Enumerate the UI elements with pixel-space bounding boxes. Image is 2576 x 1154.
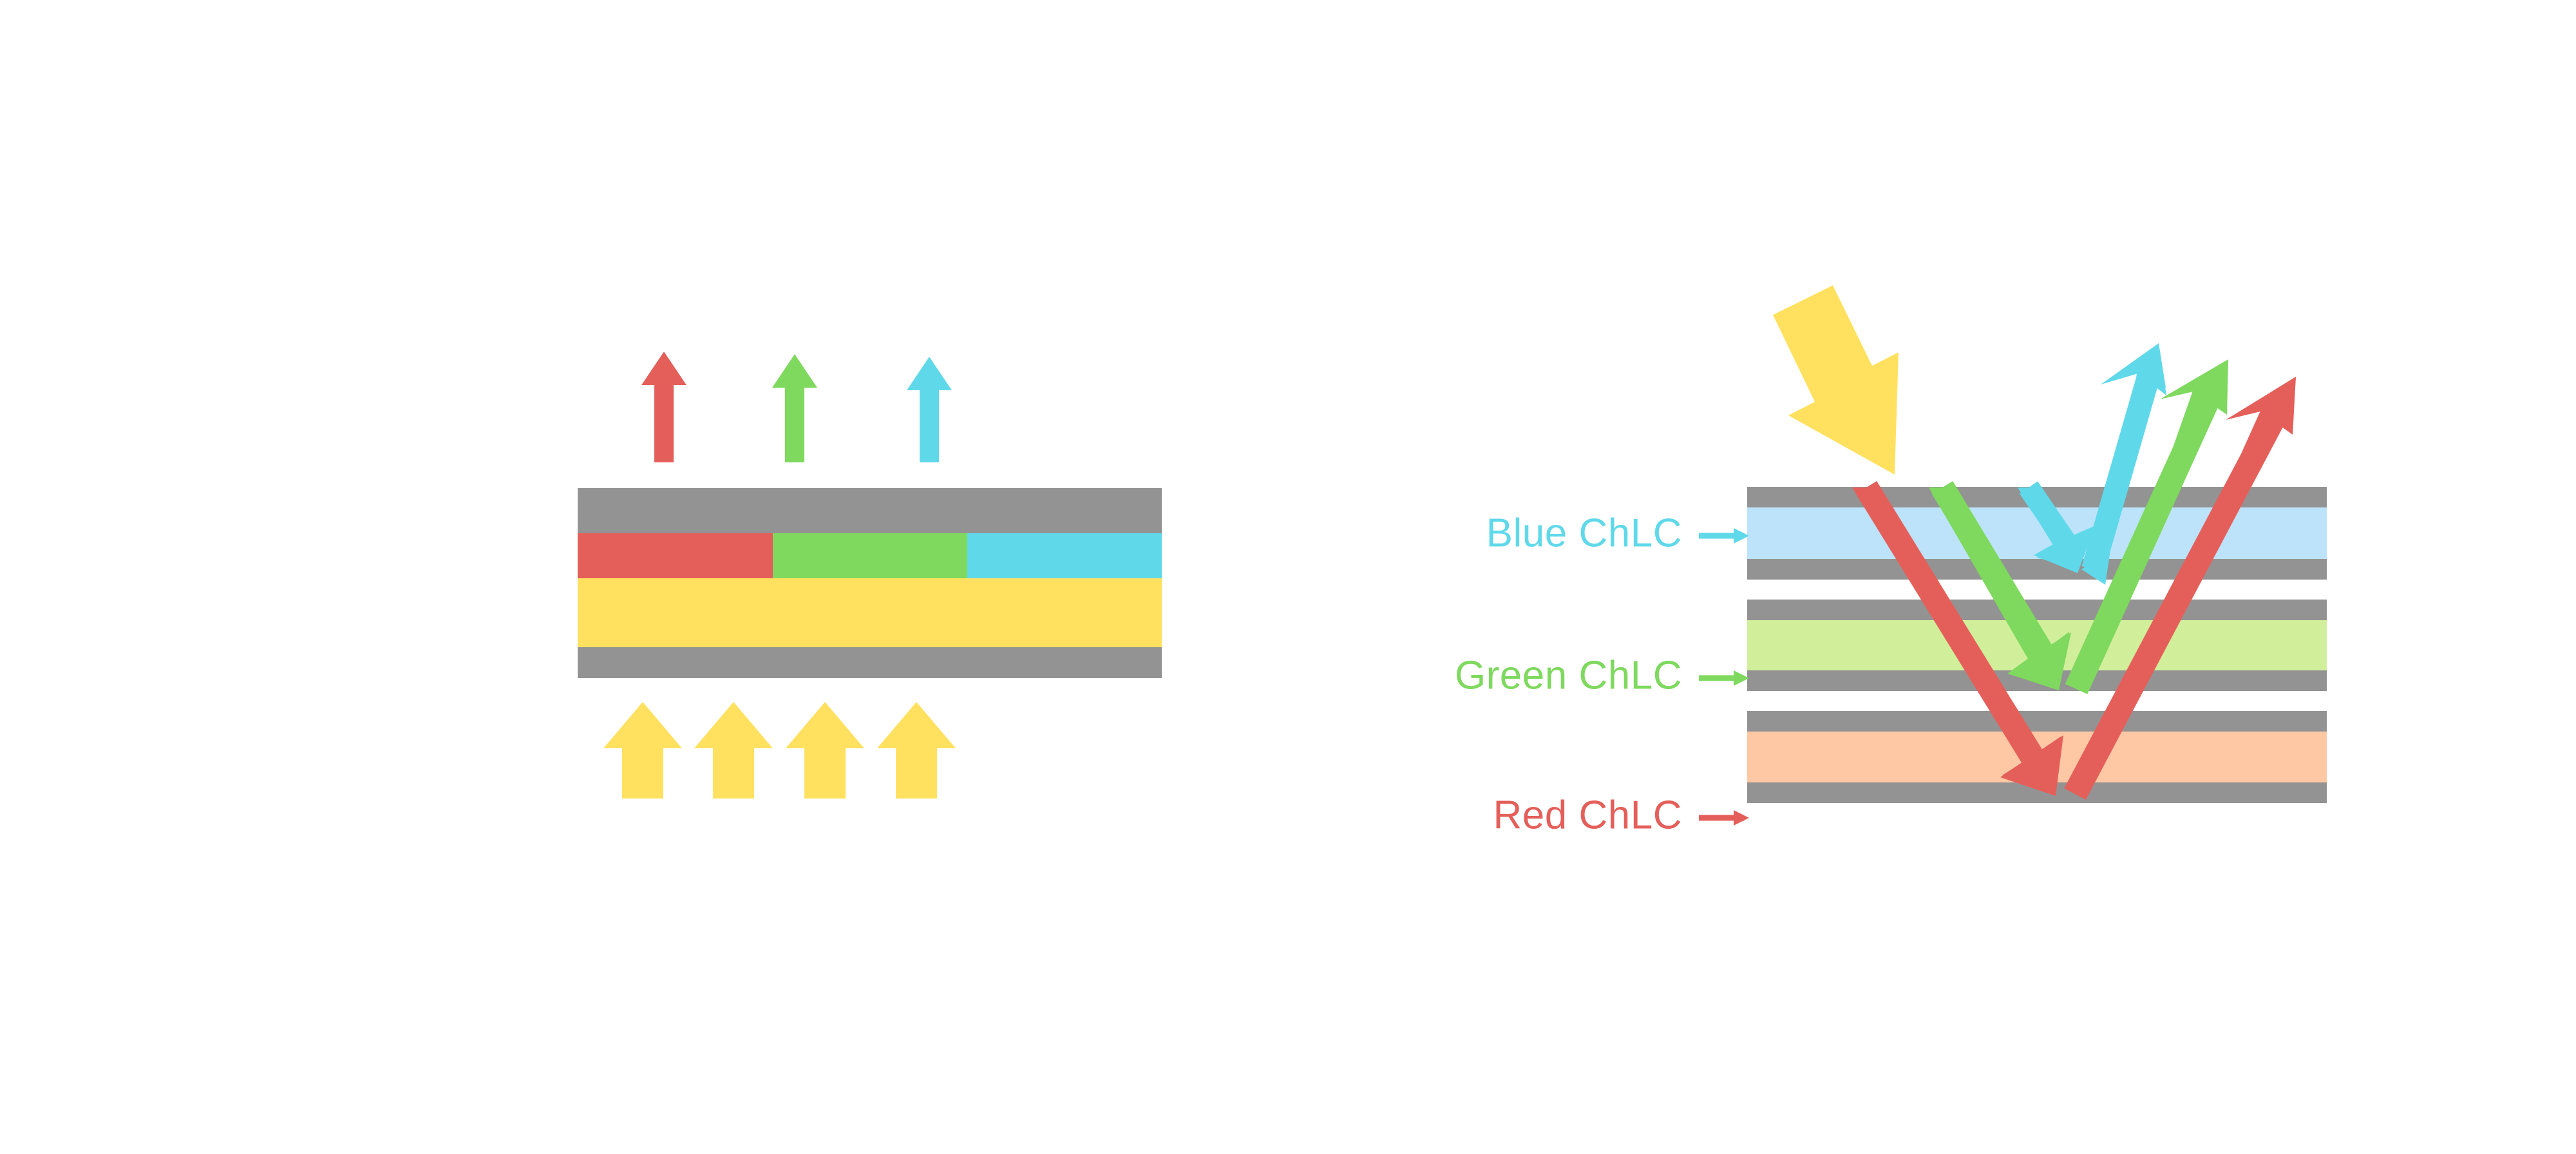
reflective-panel: Blue ChLC Green ChLC Red ChLC	[1455, 285, 2327, 837]
red-chlc-label-arrow	[1699, 810, 1749, 826]
bottom-electrode	[578, 647, 1162, 678]
emission-panel	[578, 352, 1162, 799]
backlight-arrow	[877, 702, 956, 799]
blue-filter	[967, 533, 1162, 578]
figure-canvas: Blue ChLC Green ChLC Red ChLC	[0, 0, 2576, 1154]
red-filter	[578, 533, 773, 578]
blue-chlc-label-arrow	[1699, 528, 1749, 544]
emission-stack	[578, 488, 1162, 678]
blue-chlc-label: Blue ChLC	[1486, 511, 1682, 555]
green-out-arrow	[772, 354, 817, 462]
red-out-arrow	[641, 352, 687, 462]
backlight-arrow	[786, 702, 864, 799]
red-top-electrode	[1747, 711, 2327, 732]
blue-bottom-electrode	[1747, 559, 2327, 580]
backlight-layer	[578, 578, 1162, 647]
blue-out-arrow	[907, 357, 952, 462]
incident-white-light-arrow	[1773, 285, 1899, 475]
green-chlc-label-arrow	[1699, 670, 1749, 686]
green-chlc-label: Green ChLC	[1455, 653, 1682, 697]
chlc-labels: Blue ChLC Green ChLC Red ChLC	[1455, 511, 1749, 837]
green-filter	[773, 533, 967, 578]
top-electrode	[578, 488, 1162, 533]
emitted-light-arrows	[641, 352, 952, 462]
backlight-arrow	[603, 702, 682, 799]
chlc-display-diagram: Blue ChLC Green ChLC Red ChLC	[0, 0, 2576, 1154]
green-top-electrode	[1747, 600, 2327, 620]
red-chlc-label: Red ChLC	[1493, 793, 1682, 837]
backlight-arrows	[603, 702, 956, 799]
backlight-arrow	[694, 702, 773, 799]
